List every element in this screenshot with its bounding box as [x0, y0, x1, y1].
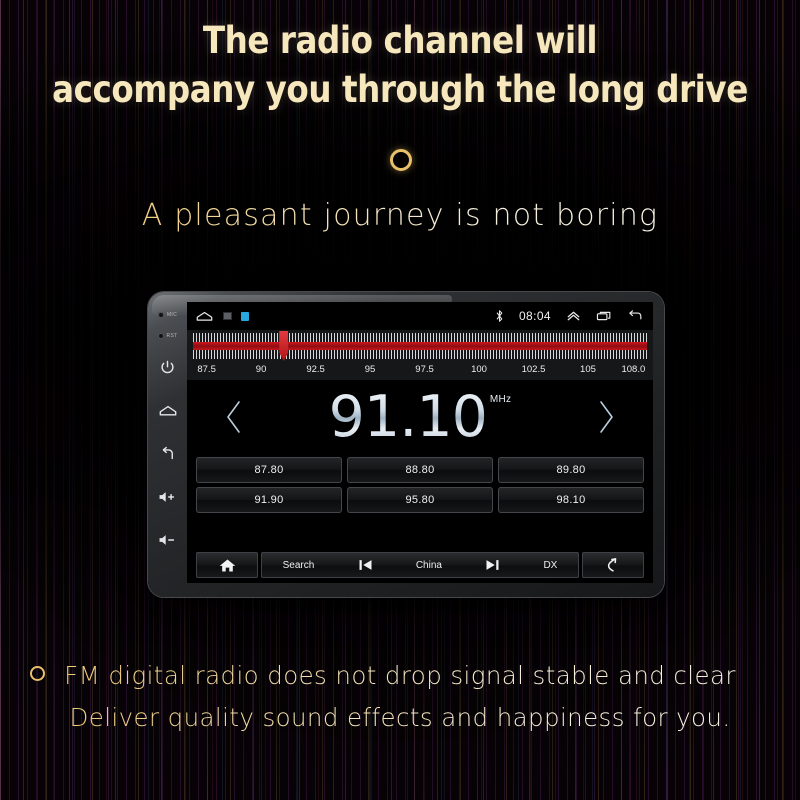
dial-label: 87.5	[197, 364, 216, 375]
mic-pinhole: MIC	[158, 304, 177, 325]
status-bar: 08:04	[187, 302, 653, 330]
frequency-unit: MHz	[490, 394, 511, 405]
dial-label: 90	[256, 364, 267, 375]
bottom-copy-line-1: FM digital radio does not drop signal st…	[0, 655, 800, 697]
power-icon	[159, 359, 176, 376]
reset-label: RST	[167, 333, 178, 339]
chevron-right-icon[interactable]	[589, 397, 623, 437]
home-key[interactable]	[148, 389, 187, 432]
volume-down-key[interactable]	[148, 518, 187, 561]
mic-label: MIC	[167, 312, 177, 318]
dial-label: 97.5	[415, 364, 434, 375]
volume-up-key[interactable]	[148, 475, 187, 518]
preset-grid: 87.8088.8089.8091.9095.8098.10	[187, 454, 653, 513]
toolbar-dx-button[interactable]: DX	[543, 560, 557, 571]
bluetooth-icon	[495, 309, 504, 323]
dial-band	[193, 342, 647, 350]
preset-button[interactable]: 89.80	[498, 457, 644, 483]
volume-up-icon	[158, 489, 178, 505]
dial-label: 95	[365, 364, 376, 375]
dial-label: 105	[580, 364, 596, 375]
headline-line-2: accompany you through the long drive	[48, 65, 752, 114]
bottom-copy: FM digital radio does not drop signal st…	[0, 655, 800, 739]
back-arrow-icon[interactable]	[627, 310, 643, 322]
bottom-toolbar: Search China DX	[196, 552, 644, 578]
volume-down-icon	[158, 532, 178, 548]
toolbar-center-group: Search China DX	[261, 552, 579, 578]
tuner-dial[interactable]: 87.59092.59597.5100102.5105108.0	[187, 330, 653, 380]
toolbar-home-button[interactable]	[196, 552, 258, 578]
home-filled-icon	[219, 558, 236, 573]
back-arrow-icon	[159, 445, 177, 462]
reset-hole-icon[interactable]	[158, 333, 164, 339]
dial-ticks-bottom	[193, 350, 647, 359]
dial-ticks-top	[193, 333, 647, 342]
dial-label: 102.5	[522, 364, 546, 375]
chevron-up-icon[interactable]	[566, 310, 581, 322]
subtitle: A pleasant journey is not boring	[0, 198, 800, 233]
chevron-left-icon[interactable]	[217, 397, 251, 437]
preset-button[interactable]: 87.80	[196, 457, 342, 483]
skip-previous-icon[interactable]	[358, 558, 373, 572]
bullet-ring-icon	[30, 666, 45, 681]
mic-hole-icon	[158, 312, 164, 318]
preset-button[interactable]: 95.80	[347, 487, 493, 513]
power-key[interactable]	[148, 346, 187, 389]
preset-button[interactable]: 91.90	[196, 487, 342, 513]
frequency-value-wrap: 91.10 MHz	[329, 388, 512, 446]
status-bar-left	[195, 310, 249, 323]
home-icon[interactable]	[195, 310, 214, 323]
app-indicator-icon	[241, 312, 249, 321]
back-key[interactable]	[148, 432, 187, 475]
dial-label: 108.0	[621, 364, 645, 375]
headline-line-1: The radio channel will	[48, 16, 752, 65]
hardware-key-rail: MIC RST	[148, 292, 187, 597]
frequency-value: 91.10	[329, 388, 487, 446]
headline: The radio channel will accompany you thr…	[48, 16, 752, 114]
bottom-copy-line-2: Deliver quality sound effects and happin…	[0, 697, 800, 739]
ring-divider-icon	[390, 149, 412, 171]
recent-apps-icon[interactable]	[596, 310, 612, 322]
preset-button[interactable]: 88.80	[347, 457, 493, 483]
status-bar-time: 08:04	[519, 309, 551, 323]
return-arrow-icon	[605, 557, 621, 573]
skip-next-icon[interactable]	[485, 558, 500, 572]
home-outline-icon	[158, 403, 178, 419]
toolbar-region-button[interactable]: China	[416, 560, 442, 571]
status-bar-right: 08:04	[495, 309, 643, 323]
reset-pinhole[interactable]: RST	[158, 325, 178, 346]
dial-label: 92.5	[306, 364, 325, 375]
car-stereo-device: MIC RST	[148, 292, 664, 597]
toolbar-back-button[interactable]	[582, 552, 644, 578]
device-screen: 08:04	[187, 302, 653, 583]
sd-card-icon	[223, 312, 232, 320]
frequency-readout: 91.10 MHz	[187, 380, 653, 454]
dial-scale-labels: 87.59092.59597.5100102.5105108.0	[193, 364, 647, 379]
dial-label: 100	[471, 364, 487, 375]
preset-button[interactable]: 98.10	[498, 487, 644, 513]
toolbar-search-button[interactable]: Search	[283, 560, 315, 571]
